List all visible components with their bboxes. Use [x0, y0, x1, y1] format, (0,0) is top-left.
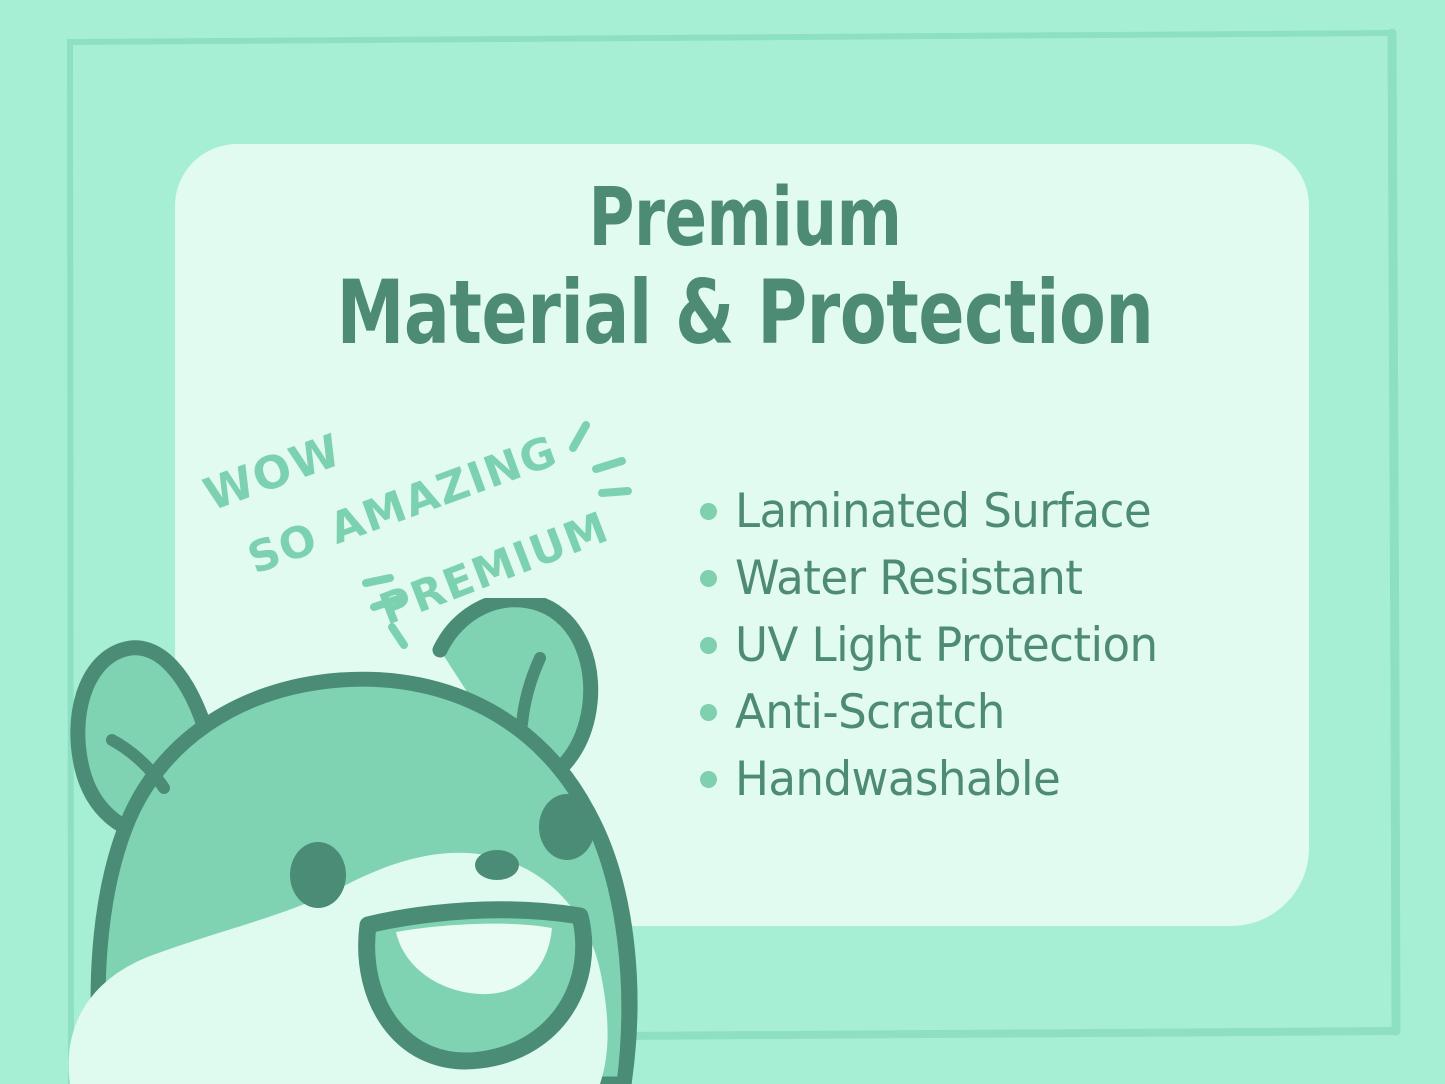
list-item: Handwashable [700, 746, 1175, 813]
feature-label: Laminated Surface [735, 484, 1151, 539]
headline-line-2: Material & Protection [276, 266, 1213, 359]
page-title: Premium Material & Protection [200, 176, 1290, 359]
bullet-dot-icon [700, 704, 717, 721]
headline-line-1: Premium [276, 176, 1213, 262]
feature-label: Handwashable [735, 752, 1060, 807]
list-item: Laminated Surface [700, 478, 1175, 545]
bullet-dot-icon [700, 637, 717, 654]
list-item: Anti-Scratch [700, 679, 1175, 746]
feature-label: UV Light Protection [735, 618, 1158, 673]
list-item: Water Resistant [700, 545, 1175, 612]
poster-canvas: Premium Material & Protection Laminated … [0, 0, 1445, 1084]
bear-character [40, 598, 700, 1084]
feature-list: Laminated Surface Water Resistant UV Lig… [700, 478, 1175, 813]
list-item: UV Light Protection [700, 612, 1175, 679]
bullet-dot-icon [700, 503, 717, 520]
bullet-dot-icon [700, 771, 717, 788]
feature-label: Water Resistant [735, 551, 1082, 606]
bullet-dot-icon [700, 570, 717, 587]
feature-label: Anti-Scratch [735, 685, 1005, 740]
